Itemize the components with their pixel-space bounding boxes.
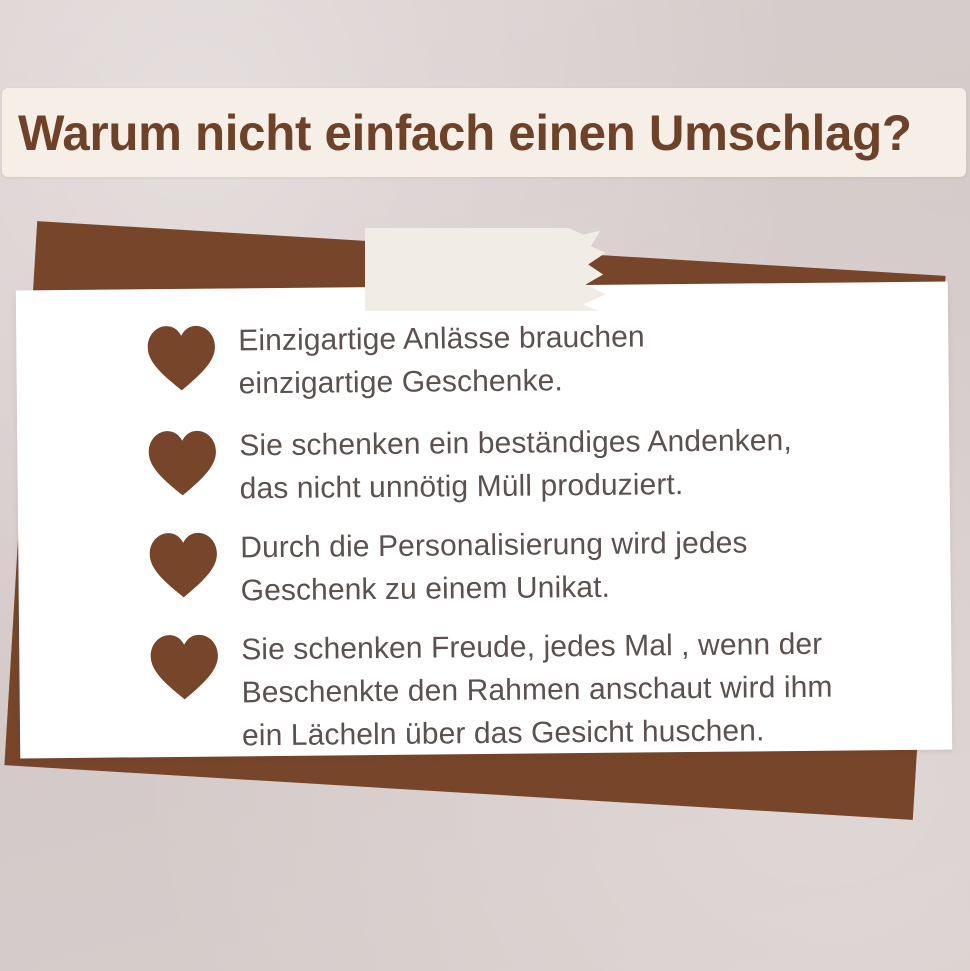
list-item: Sie schenken ein beständiges Andenken, d… <box>147 419 792 511</box>
heart-icon <box>147 429 218 500</box>
list-item: Einzigartige Anlässe brauchen einzigarti… <box>146 315 645 406</box>
list-item-label: Sie schenken Freude, jedes Mal , wenn de… <box>241 623 833 758</box>
poster-canvas: Warum nicht einfach einen Umschlag? Einz… <box>0 0 970 971</box>
benefits-list: Einzigartige Anlässe brauchen einzigarti… <box>16 282 952 759</box>
heart-icon <box>148 531 219 602</box>
page-title: Warum nicht einfach einen Umschlag? <box>18 104 912 162</box>
washi-tape <box>365 228 613 311</box>
content-card: Einzigartige Anlässe brauchen einzigarti… <box>16 282 952 759</box>
list-item-label: Durch die Personalisierung wird jedes Ge… <box>240 521 748 612</box>
list-item-label: Sie schenken ein beständiges Andenken, d… <box>239 419 792 510</box>
title-banner: Warum nicht einfach einen Umschlag? <box>2 88 966 177</box>
heart-icon <box>146 324 217 395</box>
heart-icon <box>149 633 220 704</box>
list-item: Sie schenken Freude, jedes Mal , wenn de… <box>149 623 833 759</box>
list-item-label: Einzigartige Anlässe brauchen einzigarti… <box>238 315 645 405</box>
list-item: Durch die Personalisierung wird jedes Ge… <box>148 521 748 613</box>
